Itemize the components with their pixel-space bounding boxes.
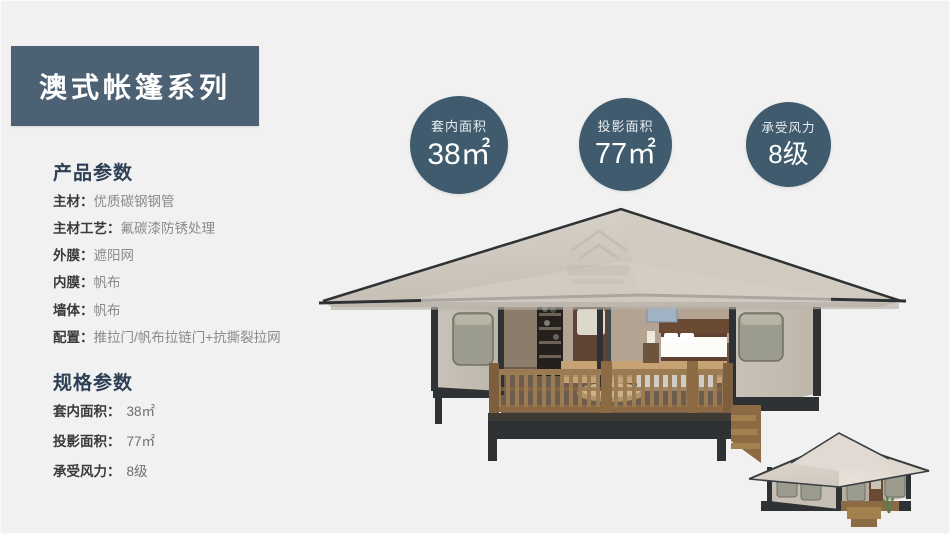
param-label: 外膜： <box>53 248 94 263</box>
spec-params-heading: 规格参数 <box>53 374 353 395</box>
roof-ridge <box>323 209 901 301</box>
spec-row: 投影面积：77㎡ <box>53 435 353 449</box>
stat-label: 投影面积 <box>597 120 653 133</box>
slide-canvas: 澳式帐篷系列 产品参数 主材：优质碳钢钢管 主材工艺：氟碳漆防锈处理 外膜：遮阳… <box>0 0 950 534</box>
spec-value: 8级 <box>127 464 148 479</box>
param-label: 配置： <box>53 330 94 345</box>
param-label: 主材工艺： <box>53 221 121 236</box>
roof-watermark <box>567 229 629 284</box>
stat-value: 77㎡ <box>595 140 656 169</box>
tent-deck-base <box>488 413 731 461</box>
section-spacer <box>53 358 353 374</box>
roof-main-plane <box>323 209 901 301</box>
spec-label: 承受风力： <box>53 464 121 479</box>
param-label: 内膜： <box>53 275 94 290</box>
product-params-heading: 产品参数 <box>53 164 353 185</box>
page-title: 澳式帐篷系列 <box>39 66 231 106</box>
param-row: 墙体：帆布 <box>53 304 353 318</box>
roof-front <box>323 209 901 307</box>
roof-right <box>621 209 901 301</box>
stat-circle-interior-area: 套内面积 38㎡ <box>410 96 508 194</box>
tent-steps <box>731 405 761 463</box>
param-value: 遮阳网 <box>94 248 135 263</box>
param-row: 内膜：帆布 <box>53 276 353 290</box>
tent-right-wall <box>729 295 821 413</box>
tent-left-base <box>433 384 523 424</box>
product-params-list: 主材：优质碳钢钢管 主材工艺：氟碳漆防锈处理 外膜：遮阳网 内膜：帆布 墙体：帆… <box>53 195 353 345</box>
spec-params-list: 套内面积：38㎡ 投影面积：77㎡ 承受风力：8级 <box>53 405 353 480</box>
tent-left-wall <box>431 295 504 395</box>
main-tent-graphic <box>319 209 906 463</box>
stat-value: 38㎡ <box>427 140 490 170</box>
stat-label: 承受风力 <box>761 122 815 135</box>
spec-label: 投影面积： <box>53 434 121 449</box>
small-tent-wall-right <box>839 467 909 509</box>
series-title-banner: 澳式帐篷系列 <box>11 46 259 126</box>
small-tent-wall-left <box>769 469 839 509</box>
param-row: 主材：优质碳钢钢管 <box>53 195 353 209</box>
roof-highlight <box>621 209 901 301</box>
roof-left <box>323 209 641 301</box>
param-row: 配置：推拉门/帆布拉链门+抗撕裂拉网 <box>53 331 353 345</box>
param-value: 氟碳漆防锈处理 <box>121 221 216 236</box>
param-row: 主材工艺：氟碳漆防锈处理 <box>53 222 353 236</box>
spec-label: 套内面积： <box>53 404 121 419</box>
param-value: 优质碳钢钢管 <box>94 194 175 209</box>
spec-value: 77㎡ <box>127 434 156 449</box>
param-value: 推拉门/帆布拉链门+抗撕裂拉网 <box>94 330 281 345</box>
spec-value: 38㎡ <box>127 404 156 419</box>
roof-eave <box>319 295 906 303</box>
param-value: 帆布 <box>94 275 121 290</box>
tent-post <box>607 291 611 391</box>
tent-post <box>597 291 603 391</box>
param-label: 墙体： <box>53 303 94 318</box>
stat-value: 8级 <box>768 141 808 167</box>
small-tent-graphic <box>749 433 929 527</box>
param-row: 外膜：遮阳网 <box>53 249 353 263</box>
stat-circle-projected-area: 投影面积 77㎡ <box>579 98 672 191</box>
small-tent-roof <box>749 441 929 487</box>
spec-row: 承受风力：8级 <box>53 465 353 479</box>
stat-label: 套内面积 <box>431 120 487 133</box>
stat-circle-wind-resistance: 承受风力 8级 <box>746 102 831 187</box>
tent-interior <box>501 301 741 413</box>
specifications-panel: 产品参数 主材：优质碳钢钢管 主材工艺：氟碳漆防锈处理 外膜：遮阳网 内膜：帆布… <box>53 164 353 495</box>
param-value: 帆布 <box>94 303 121 318</box>
param-label: 主材： <box>53 194 94 209</box>
tent-deck-railing <box>489 361 733 413</box>
spec-row: 套内面积：38㎡ <box>53 405 353 419</box>
